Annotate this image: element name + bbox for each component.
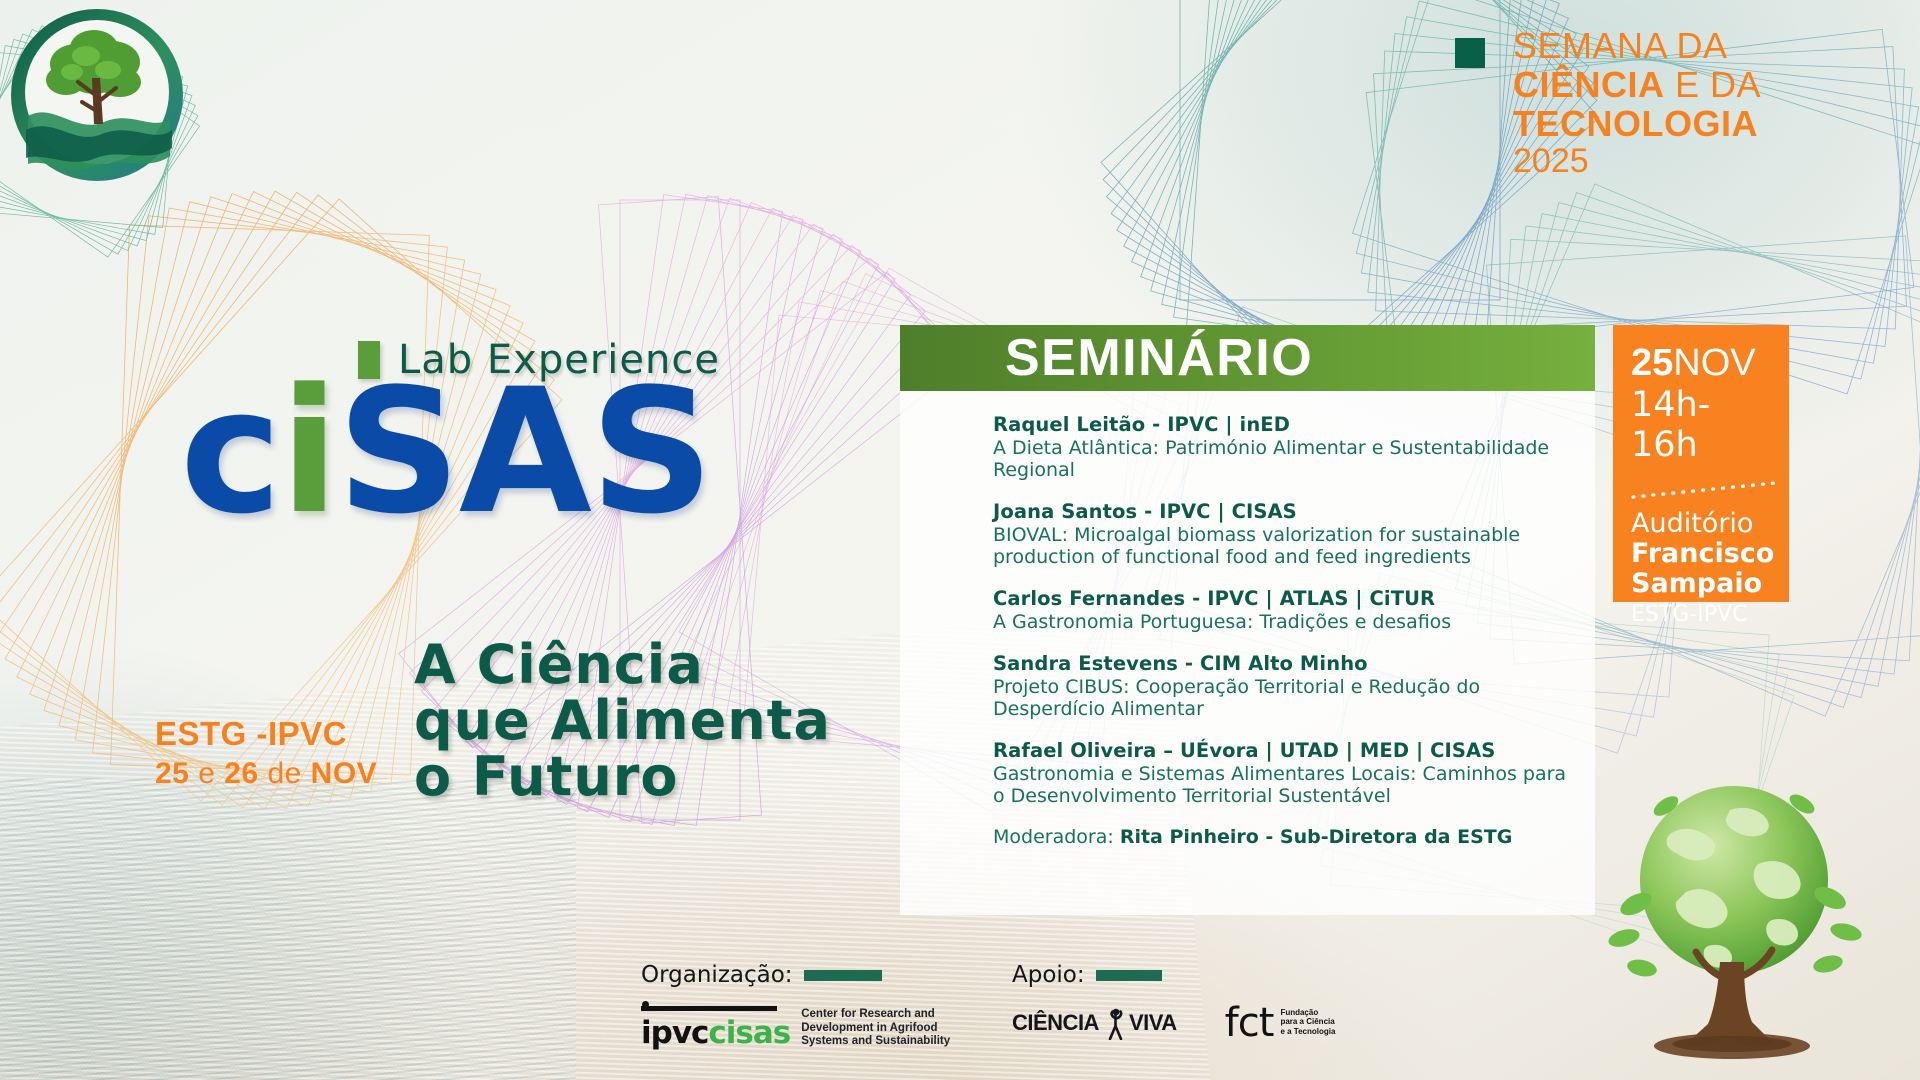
talk-title: A Dieta Atlântica: Património Alimentar … bbox=[993, 437, 1575, 481]
fct-subtitle-line-3: e a Tecnologia bbox=[1280, 1027, 1335, 1037]
talk-title: A Gastronomia Portuguesa: Tradições e de… bbox=[993, 611, 1575, 633]
header-line-tecnologia: TECNOLOGIA bbox=[1513, 106, 1761, 142]
label-bar bbox=[1096, 970, 1162, 981]
ipvc-subtitle-line-1: Center for Research and bbox=[801, 1008, 950, 1022]
fct-wordmark: fct bbox=[1225, 1006, 1274, 1040]
speaker-name: Raquel Leitão - IPVC | inED bbox=[993, 413, 1575, 436]
cisas-letters-sas: SAS bbox=[337, 382, 712, 522]
room-name-line-2: Sampaio bbox=[1631, 569, 1773, 599]
date-month: NOV bbox=[311, 757, 378, 790]
fct-subtitle-line-2: para a Ciência bbox=[1280, 1017, 1335, 1027]
tagline-line-2: que Alimenta bbox=[414, 693, 831, 749]
fct-subtitle: Fundação para a Ciência e a Tecnologia bbox=[1280, 1008, 1335, 1041]
cisas-letter-c: c bbox=[180, 382, 280, 522]
header-line-semana: SEMANA DA bbox=[1513, 28, 1761, 64]
speaker-name: Rafael Oliveira – UÉvora | UTAD | MED | … bbox=[993, 739, 1575, 762]
speaker-name: Joana Santos - IPVC | CISAS bbox=[993, 500, 1575, 523]
header-year: 2025 bbox=[1513, 144, 1761, 178]
organization-label: Organização: bbox=[641, 962, 793, 988]
moderator-name: Rita Pinheiro - Sub-Diretora da ESTG bbox=[1120, 826, 1513, 848]
fct-subtitle-line-1: Fundação bbox=[1280, 1008, 1335, 1018]
room-name-line-1: Francisco bbox=[1631, 539, 1773, 569]
seminar-program-list: Raquel Leitão - IPVC | inED A Dieta Atlâ… bbox=[900, 391, 1595, 848]
fct-logo: fct Fundação para a Ciência e a Tecnolog… bbox=[1225, 1006, 1336, 1040]
ciencia-viva-part-a: CIÊNCIA bbox=[1012, 1010, 1099, 1036]
date-day: 25 bbox=[1631, 342, 1673, 384]
ipvc-subtitle-line-2: Development in Agrifood bbox=[801, 1022, 950, 1036]
label-bar bbox=[804, 970, 882, 981]
event-venue-dates: ESTG -IPVC 25 e 26 de NOV bbox=[155, 715, 377, 791]
list-item: Rafael Oliveira – UÉvora | UTAD | MED | … bbox=[993, 739, 1575, 807]
ipvc-subtitle-line-3: Systems and Sustainability bbox=[801, 1035, 950, 1049]
room-institution: ESTG-IPVC bbox=[1631, 601, 1773, 629]
list-item: Joana Santos - IPVC | CISAS BIOVAL: Micr… bbox=[993, 500, 1575, 568]
moderator-label: Moderadora: bbox=[993, 826, 1120, 848]
green-square-icon bbox=[1455, 38, 1485, 68]
tree-in-circle-logo bbox=[8, 6, 186, 184]
date-month-abbr: NOV bbox=[1673, 342, 1755, 384]
list-item: Raquel Leitão - IPVC | inED A Dieta Atlâ… bbox=[993, 413, 1575, 481]
date-row: 25NOV bbox=[1631, 343, 1773, 383]
seminar-title: SEMINÁRIO bbox=[1005, 328, 1313, 388]
seminar-card-header: SEMINÁRIO bbox=[900, 325, 1595, 391]
cisas-letter-i: i bbox=[280, 382, 337, 522]
date-conj: e bbox=[189, 757, 224, 790]
date-time-box: 25NOV 14h-16h Auditório Francisco Sampai… bbox=[1613, 325, 1789, 602]
tagline-line-1: A Ciência bbox=[414, 637, 831, 693]
time-range: 14h-16h bbox=[1631, 385, 1773, 465]
tagline: A Ciência que Alimenta o Futuro bbox=[414, 637, 831, 805]
ciencia-viva-logo: CIÊNCIA VIVA bbox=[1012, 1006, 1177, 1040]
dates-line: 25 e 26 de NOV bbox=[155, 757, 377, 791]
organization-block: Organização: ipvccisas Center for Resear… bbox=[641, 962, 950, 1051]
globe-tree-icon bbox=[1562, 772, 1902, 1072]
tagline-line-3: o Futuro bbox=[414, 749, 831, 805]
dotted-line-icon bbox=[1631, 481, 1773, 499]
date-de: de bbox=[259, 757, 311, 790]
list-item: Sandra Estevens - CIM Alto Minho Projeto… bbox=[993, 652, 1575, 720]
talk-title: Projeto CIBUS: Cooperação Territorial e … bbox=[993, 676, 1575, 720]
ciencia-viva-part-b: VIVA bbox=[1129, 1010, 1177, 1036]
venue-line: ESTG -IPVC bbox=[155, 715, 377, 753]
support-label: Apoio: bbox=[1012, 962, 1085, 988]
date-second: 26 bbox=[224, 757, 258, 790]
moderator-row: Moderadora: Rita Pinheiro - Sub-Diretora… bbox=[993, 826, 1575, 848]
cisas-wordmark: c i SAS bbox=[180, 382, 712, 522]
logo-rule-icon bbox=[641, 1006, 777, 1011]
seminar-card: SEMINÁRIO Raquel Leitão - IPVC | inED A … bbox=[900, 325, 1595, 915]
ipvc-word: ipvc bbox=[641, 1015, 708, 1051]
talk-title: BIOVAL: Microalgal biomass valorization … bbox=[993, 524, 1575, 568]
header-ciencia-bold: CIÊNCIA bbox=[1513, 64, 1665, 105]
talk-title: Gastronomia e Sistemas Alimentares Locai… bbox=[993, 763, 1575, 807]
person-icon bbox=[1099, 1006, 1129, 1040]
header-line-ciencia: CIÊNCIA E DA bbox=[1513, 67, 1761, 103]
event-header: SEMANA DA CIÊNCIA E DA TECNOLOGIA 2025 bbox=[1455, 28, 1885, 178]
header-ciencia-rest: E DA bbox=[1665, 64, 1762, 105]
room-label: Auditório bbox=[1631, 509, 1773, 539]
cisas-word: cisas bbox=[708, 1015, 790, 1051]
speaker-name: Carlos Fernandes - IPVC | ATLAS | CiTUR bbox=[993, 587, 1575, 610]
ipvc-subtitle: Center for Research and Development in A… bbox=[801, 1008, 950, 1051]
date-first: 25 bbox=[155, 757, 189, 790]
speaker-name: Sandra Estevens - CIM Alto Minho bbox=[993, 652, 1575, 675]
support-block: Apoio: CIÊNCIA VIVA fct Fundação para a … bbox=[1012, 962, 1335, 1040]
poster-canvas: SEMANA DA CIÊNCIA E DA TECNOLOGIA 2025 L… bbox=[0, 0, 1920, 1080]
list-item: Carlos Fernandes - IPVC | ATLAS | CiTUR … bbox=[993, 587, 1575, 633]
ipvc-cisas-logo: ipvccisas Center for Research and Develo… bbox=[641, 1008, 950, 1051]
